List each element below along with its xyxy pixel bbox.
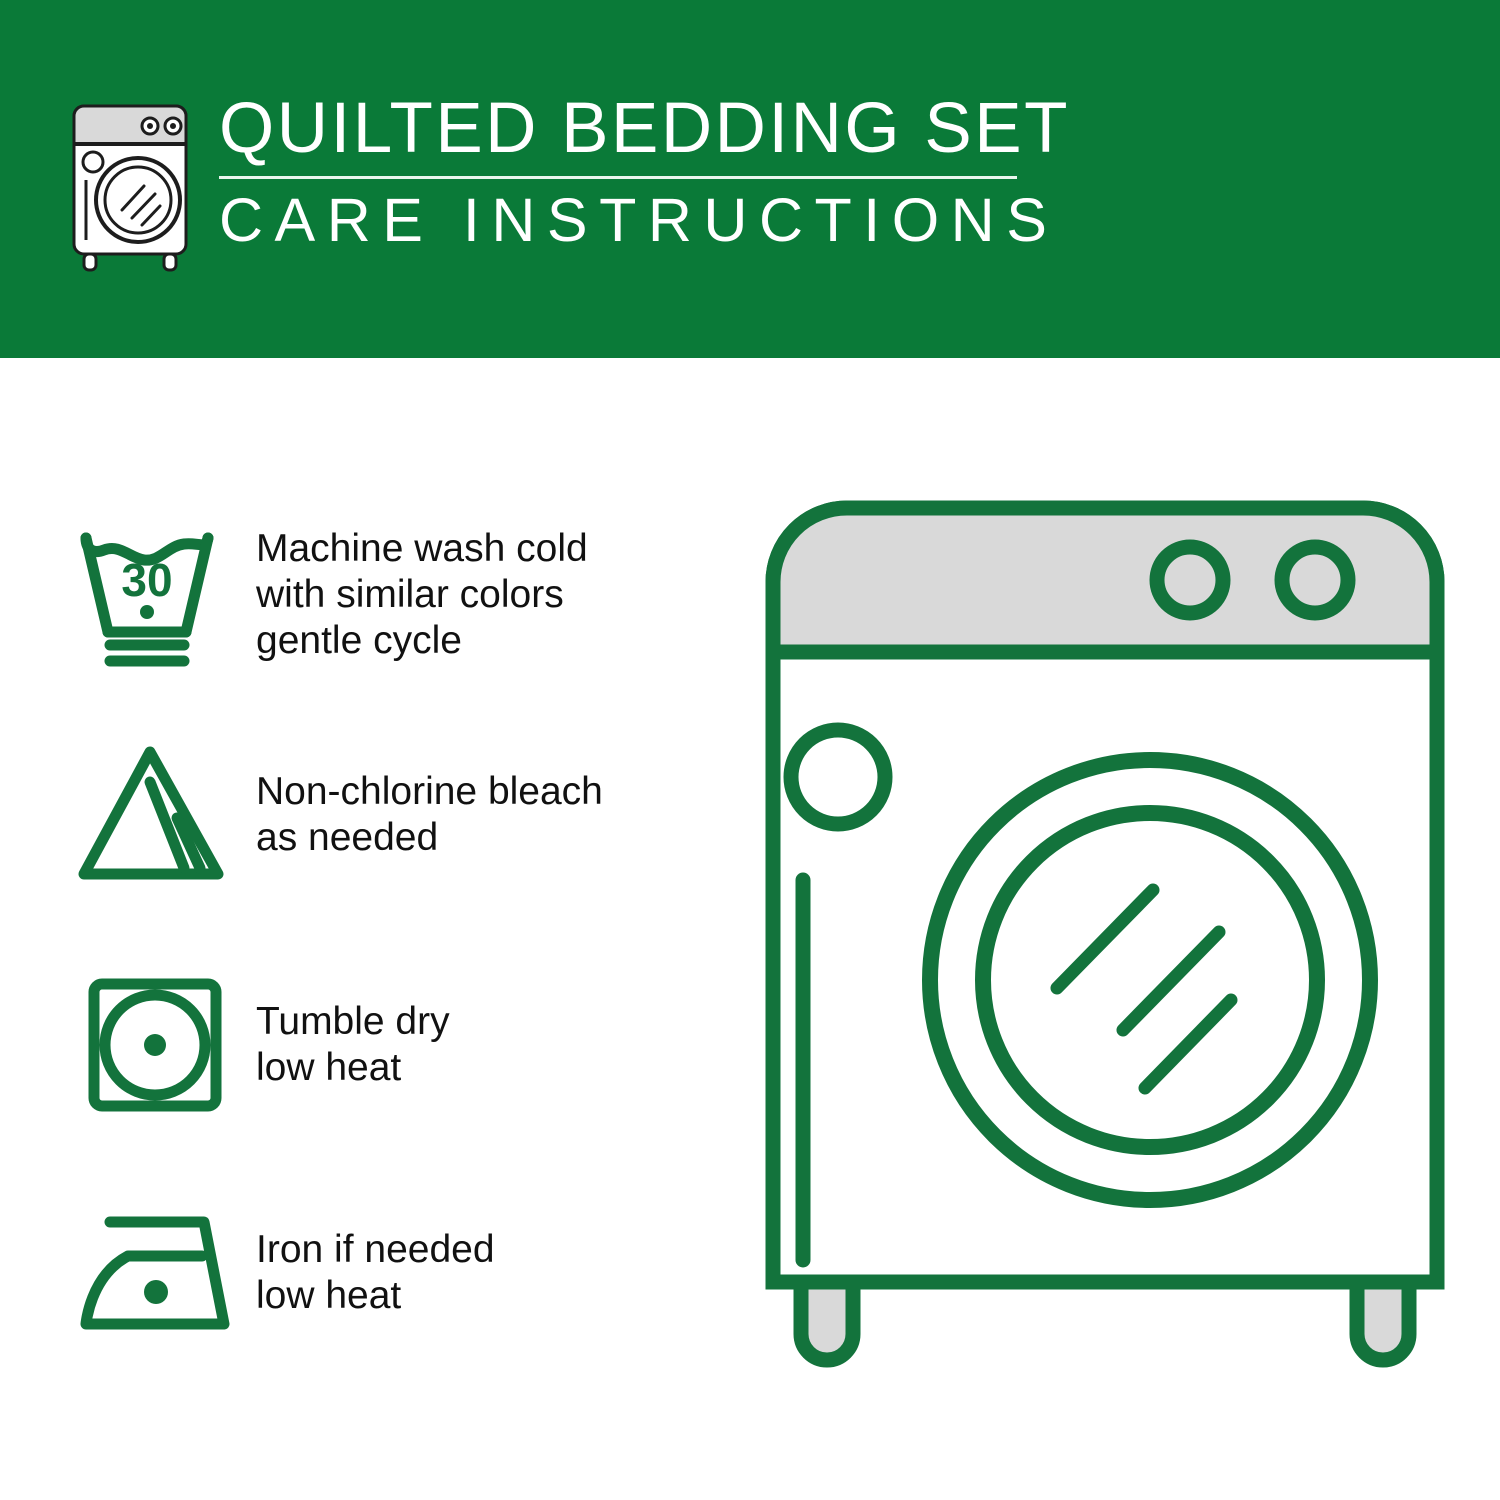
list-item-label: Tumble dry low heat xyxy=(244,999,712,1091)
washing-machine-icon xyxy=(60,100,200,272)
header-content: QUILTED BEDDING SET CARE INSTRUCTIONS xyxy=(60,92,1040,282)
control-panel xyxy=(773,508,1437,652)
header-banner: QUILTED BEDDING SET CARE INSTRUCTIONS xyxy=(0,0,1500,358)
list-item: 30 Machine wash cold with similar colors… xyxy=(72,520,712,670)
tumble-dry-low-symbol xyxy=(72,970,244,1120)
header-titles: QUILTED BEDDING SET CARE INSTRUCTIONS xyxy=(217,92,1027,253)
list-item: Iron if needed low heat xyxy=(72,1198,712,1348)
iron-low-heat-symbol xyxy=(72,1198,244,1348)
list-item-label: Iron if needed low heat xyxy=(244,1227,712,1319)
list-item-label: Machine wash cold with similar colors ge… xyxy=(244,526,712,664)
leg-left xyxy=(801,1282,853,1360)
machine-wash-30-gentle-symbol: 30 xyxy=(72,520,244,670)
leg-right xyxy=(1357,1282,1409,1360)
wash-temperature-label: 30 xyxy=(121,554,172,606)
list-item: Tumble dry low heat xyxy=(72,970,712,1120)
page-subtitle: CARE INSTRUCTIONS xyxy=(217,187,1027,253)
list-item: Non-chlorine bleach as needed xyxy=(72,740,712,890)
front-load-washing-machine-illustration xyxy=(735,470,1475,1430)
non-chlorine-bleach-symbol xyxy=(72,740,244,890)
title-divider xyxy=(219,176,1017,179)
list-item-label: Non-chlorine bleach as needed xyxy=(244,769,712,861)
page-title: QUILTED BEDDING SET xyxy=(217,92,1027,166)
care-instruction-list: 30 Machine wash cold with similar colors… xyxy=(0,358,730,1500)
